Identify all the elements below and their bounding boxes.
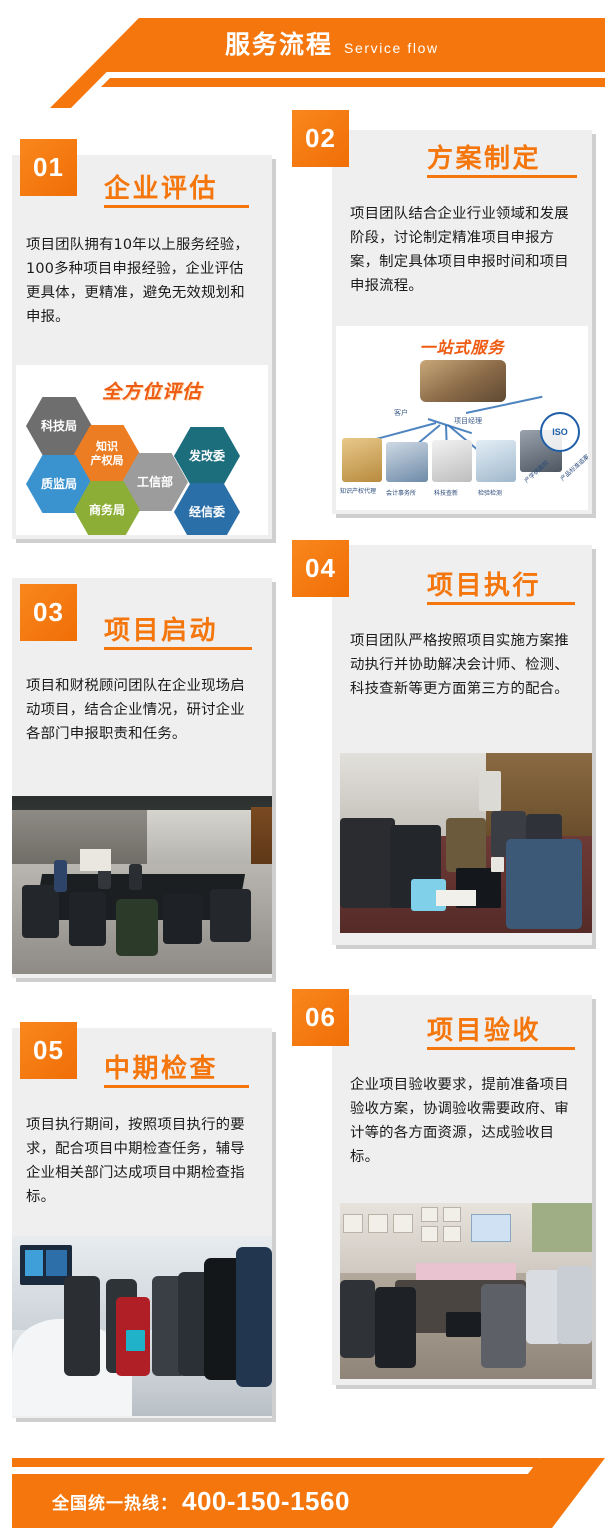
card-title: 项目验收 (427, 1010, 541, 1047)
card-body-text: 项目团队拥有10年以上服务经验，100多种项目申报经验，企业评估更具体，更精准，… (26, 233, 258, 329)
process-card-01[interactable]: 01 企业评估 项目团队拥有10年以上服务经验，100多种项目申报经验，企业评估… (12, 155, 272, 539)
card-title-underline (104, 647, 252, 650)
card-title-underline (104, 205, 249, 208)
card-number-badge: 06 (292, 989, 349, 1046)
card-media-hexagon-diagram: 全方位评估 科技局 知识 产权局 发改委 质监局 工信部 商务局 经信委 (16, 365, 268, 535)
card-media-one-stop-service-diagram: 一站式服务 客户 项目经理 ISO 知识产权代理 会计事务所 科技查新 检验检测… (336, 326, 588, 510)
card-body-text: 项目团队结合企业行业领域和发展阶段，讨论制定精准项目申报方案，制定具体项目申报时… (350, 202, 578, 298)
card-number-badge: 03 (20, 584, 77, 641)
card-number-badge: 01 (20, 139, 77, 196)
card-body-text: 项目团队严格按照项目实施方案推动执行并协助解决会计师、检测、科技查新等更方面第三… (350, 629, 578, 701)
card-media-photo (12, 1236, 272, 1416)
card-title-underline (427, 175, 577, 178)
card-body-text: 项目和财税顾问团队在企业现场启动项目，结合企业情况，研讨企业各部门申报职责和任务… (26, 674, 258, 746)
process-card-06[interactable]: 06 项目验收 企业项目验收要求，提前准备项目验收方案，协调验收需要政府、审计等… (332, 995, 592, 1385)
card-media-photo (340, 753, 592, 933)
photo-meeting-room-kickoff (12, 796, 272, 974)
card-number-badge: 05 (20, 1022, 77, 1079)
photo-execution-working-session (340, 753, 592, 933)
oss-diagram-title: 一站式服务 (336, 334, 588, 358)
card-number-badge: 02 (292, 110, 349, 167)
process-card-05[interactable]: 05 中期检查 项目执行期间，按照项目执行的要求，配合项目中期检查任务，辅导企业… (12, 1028, 272, 1418)
oss-caption-testing: 检验检测 (478, 488, 502, 497)
hex-node-jingxin: 经信委 (174, 483, 240, 535)
oss-standards-seal: ISO (540, 412, 580, 452)
card-media-photo (340, 1203, 592, 1379)
card-media-photo (12, 796, 272, 974)
photo-acceptance-review-meeting (340, 1203, 592, 1379)
oss-node-ip (342, 438, 382, 482)
process-card-02[interactable]: 02 方案制定 项目团队结合企业行业领域和发展阶段，讨论制定精准项目申报方案，制… (332, 130, 592, 514)
oss-center-photo (420, 360, 506, 402)
card-number-badge: 04 (292, 540, 349, 597)
card-title: 企业评估 (104, 168, 218, 205)
oss-node-novelty (432, 440, 472, 482)
card-title-underline (104, 1085, 249, 1088)
oss-caption-standards: 产品标准追案 (558, 452, 588, 483)
oss-caption-ip: 知识产权代理 (340, 486, 376, 495)
card-title: 方案制定 (427, 138, 541, 175)
photo-site-visit-showroom (12, 1236, 272, 1416)
card-title: 项目启动 (104, 610, 218, 647)
card-title: 项目执行 (427, 565, 541, 602)
oss-label-pm: 项目经理 (454, 416, 482, 426)
oss-label-customer: 客户 (394, 408, 408, 418)
page-footer: 全国统一热线： 400-150-1560 (0, 1420, 605, 1538)
card-body-text: 项目执行期间，按照项目执行的要求，配合项目中期检查任务，辅导企业相关部门达成项目… (26, 1113, 258, 1209)
oss-node-accounting (386, 442, 428, 482)
oss-caption-novelty: 科技查新 (434, 488, 458, 497)
oss-caption-accounting: 会计事务所 (386, 488, 416, 497)
oss-node-testing (476, 440, 516, 482)
card-title-underline (427, 602, 575, 605)
card-title: 中期检查 (104, 1048, 218, 1085)
hotline-label: 全国统一热线： (52, 1489, 178, 1514)
hexagon-diagram-title: 全方位评估 (102, 377, 202, 404)
process-card-04[interactable]: 04 项目执行 项目团队严格按照项目实施方案推动执行并协助解决会计师、检测、科技… (332, 545, 592, 945)
process-card-grid: 01 企业评估 项目团队拥有10年以上服务经验，100多种项目申报经验，企业评估… (0, 0, 605, 1538)
process-card-03[interactable]: 03 项目启动 项目和财税顾问团队在企业现场启动项目，结合企业情况，研讨企业各部… (12, 578, 272, 978)
card-title-underline (427, 1047, 575, 1050)
hotline-group: 全国统一热线： 400-150-1560 (52, 1474, 350, 1528)
card-body-text: 企业项目验收要求，提前准备项目验收方案，协调验收需要政府、审计等的各方面资源，达… (350, 1073, 578, 1169)
footer-accent-stripe (12, 1458, 552, 1467)
hotline-number[interactable]: 400-150-1560 (182, 1486, 350, 1517)
